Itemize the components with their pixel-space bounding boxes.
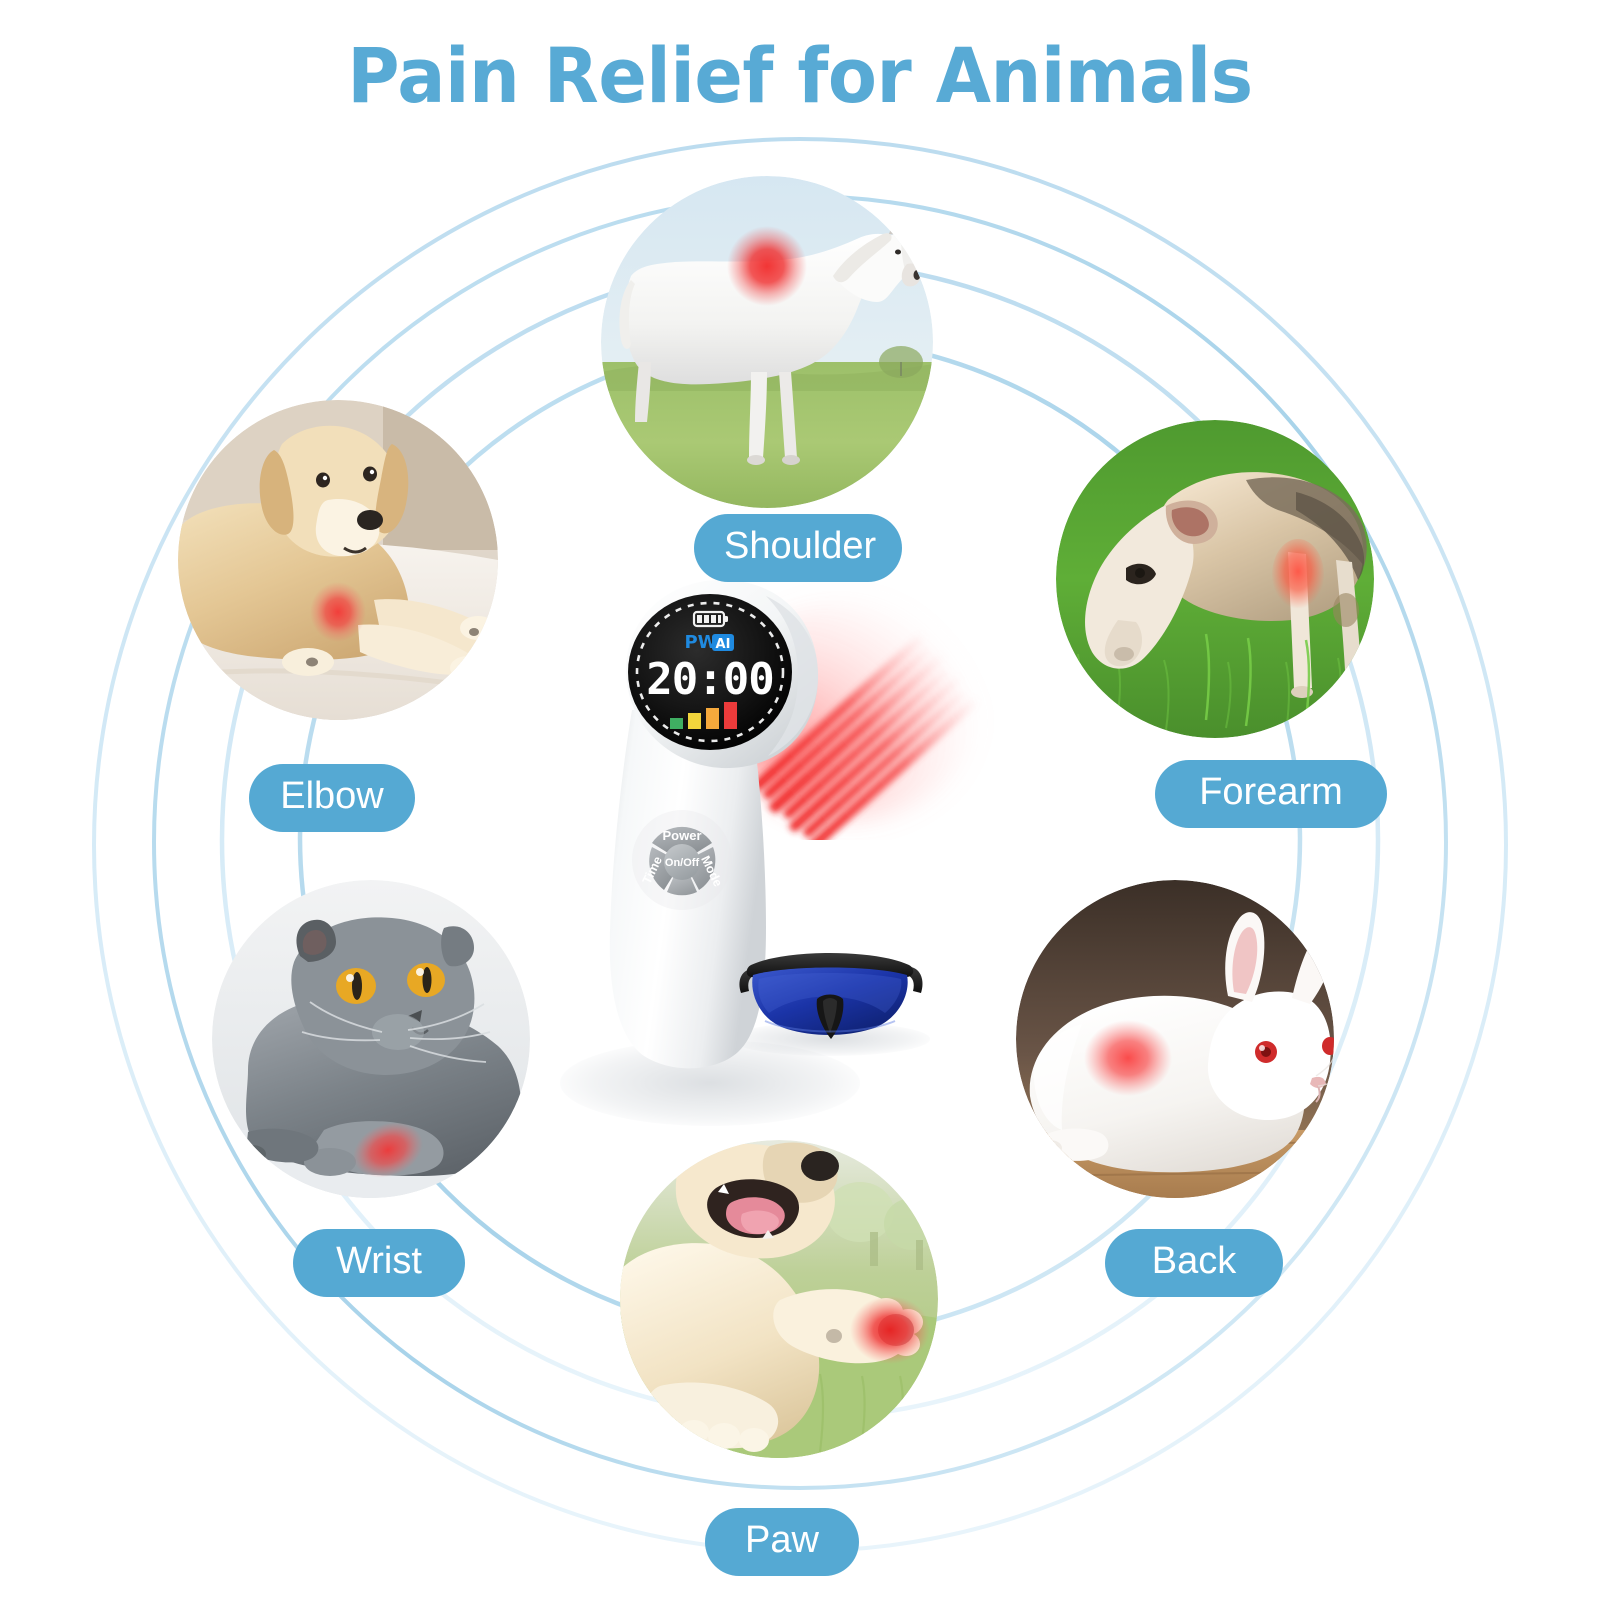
label-pill-paw: Paw — [705, 1508, 859, 1576]
power-button-label: Power — [662, 828, 701, 843]
laser-safety-goggles — [735, 935, 925, 1045]
label-pill-shoulder: Shoulder — [694, 514, 902, 582]
label-pill-wrist: Wrist — [293, 1229, 465, 1297]
label-pill-elbow: Elbow — [249, 764, 415, 832]
onoff-button-label: On/Off — [665, 857, 700, 869]
photo-circle-shoulder — [601, 176, 933, 508]
infographic-canvas: Pain Relief for Animals — [0, 0, 1600, 1600]
display-mode-ai: AI — [716, 637, 731, 652]
photo-circle-elbow — [178, 400, 498, 720]
device-display: PW AI 20:00 — [628, 594, 792, 750]
page-title: Pain Relief for Animals — [48, 38, 1552, 114]
photo-circle-wrist — [212, 880, 530, 1198]
label-pill-back: Back — [1105, 1229, 1283, 1297]
photo-circle-paw — [620, 1140, 938, 1458]
device-button-cluster[interactable]: Power Time Mode On/Off — [632, 810, 732, 910]
photo-circle-back — [1016, 880, 1334, 1198]
display-timer: 20:00 — [646, 654, 773, 705]
photo-circle-forearm — [1056, 420, 1374, 738]
label-pill-forearm: Forearm — [1155, 760, 1387, 828]
